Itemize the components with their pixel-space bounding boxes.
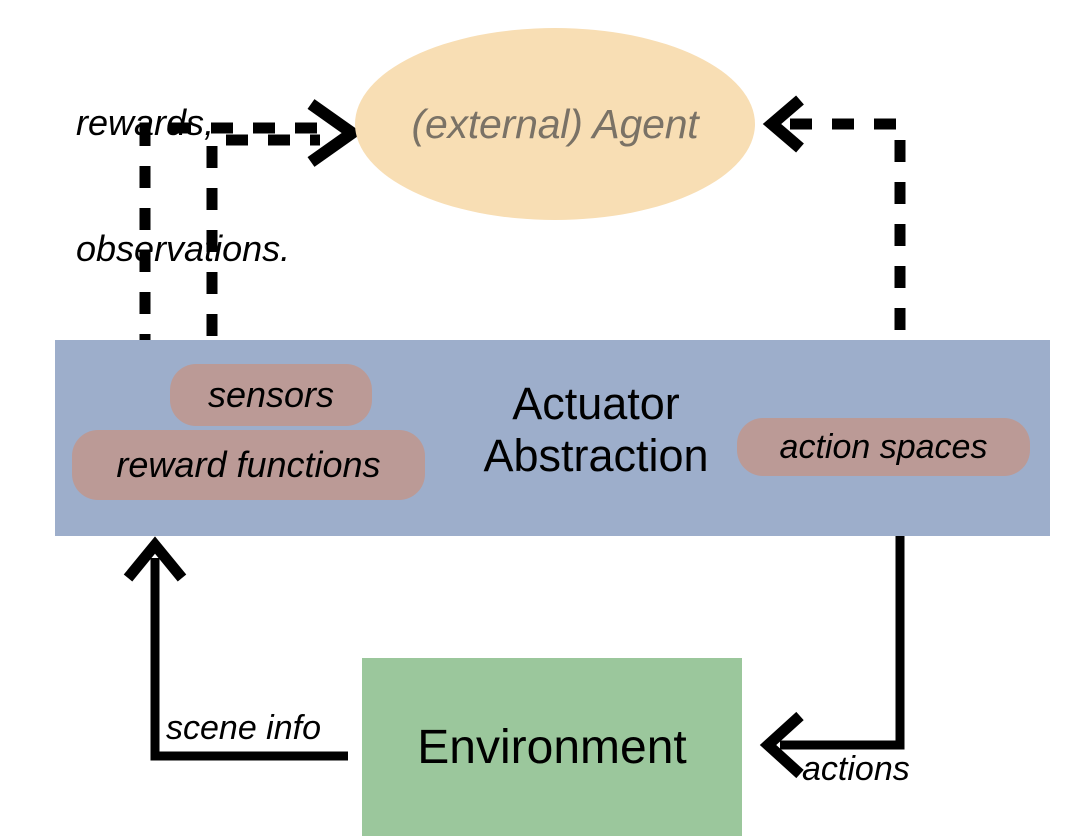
diagram-canvas: (external) Agent Actuator Abstraction se…	[0, 0, 1091, 836]
pill-reward-functions[interactable]: reward functions	[72, 430, 425, 500]
actuator-abstraction-label-line1: Actuator	[466, 378, 726, 430]
arrowhead-into-agent	[311, 104, 352, 162]
edge-label-rewards-observations-line2: observations.	[76, 228, 290, 270]
agent-label: (external) Agent	[412, 101, 699, 148]
edge-label-scene-info: scene info	[166, 709, 321, 748]
pill-sensors[interactable]: sensors	[170, 364, 372, 426]
environment-node[interactable]: Environment	[362, 658, 742, 836]
edge-label-actions: actions	[802, 750, 910, 789]
environment-label: Environment	[417, 720, 686, 775]
pill-sensors-label: sensors	[208, 374, 334, 416]
pill-action-spaces-label: action spaces	[780, 428, 988, 467]
edge-label-rewards-observations-line1: rewards,	[76, 102, 290, 144]
actuator-abstraction-label: Actuator Abstraction	[466, 378, 726, 482]
pill-action-spaces[interactable]: action spaces	[737, 418, 1030, 476]
agent-node[interactable]: (external) Agent	[355, 28, 755, 220]
edge-label-rewards-observations: rewards, observations.	[76, 18, 290, 354]
actuator-abstraction-label-line2: Abstraction	[466, 430, 726, 482]
pill-reward-functions-label: reward functions	[116, 444, 380, 486]
